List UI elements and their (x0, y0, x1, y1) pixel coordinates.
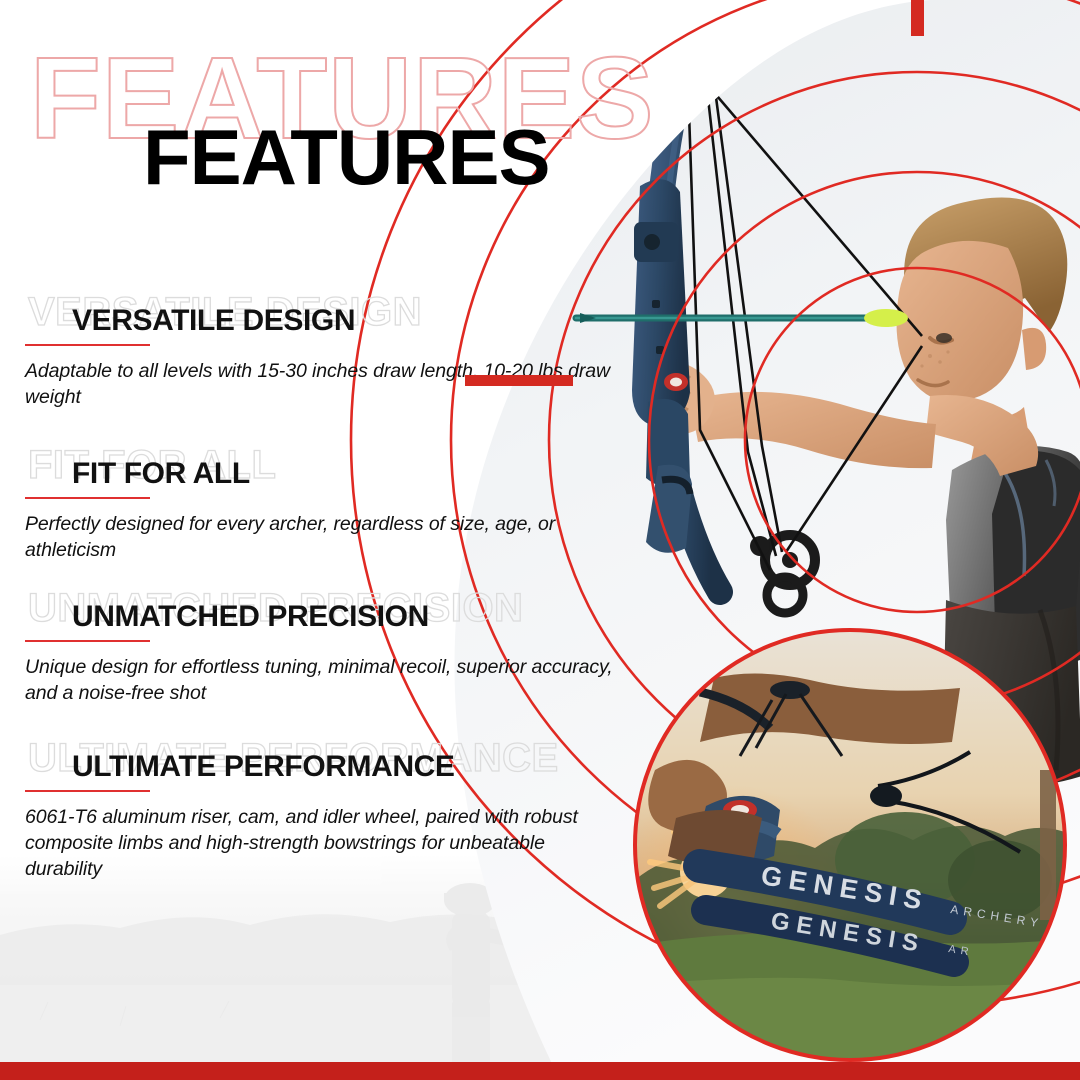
footer-bar (0, 1062, 1080, 1080)
feature-title: FIT FOR ALL (72, 459, 250, 489)
feature-underline (25, 790, 150, 792)
page-title: FEATURES (143, 118, 550, 196)
feature-underline (25, 640, 150, 642)
feature-underline (25, 344, 150, 346)
top-crosshair-tick (911, 0, 924, 36)
feature-description: Unique design for effortless tuning, min… (25, 654, 625, 706)
feature-title: VERSATILE DESIGN (72, 306, 355, 336)
left-crosshair-tick (465, 375, 573, 386)
feature-title: ULTIMATE PERFORMANCE (72, 752, 455, 782)
feature-underline (25, 497, 150, 499)
bow-closeup-inset: GENESIS ARCHERY GENESIS AR (635, 630, 1065, 1062)
feature-description: 6061-T6 aluminum riser, cam, and idler w… (25, 804, 625, 882)
features-infographic: GENESIS ARCHERY GENESIS AR FEATURES FEAT… (0, 0, 1080, 1080)
feature-title: UNMATCHED PRECISION (72, 602, 429, 632)
feature-description: Perfectly designed for every archer, reg… (25, 511, 625, 563)
